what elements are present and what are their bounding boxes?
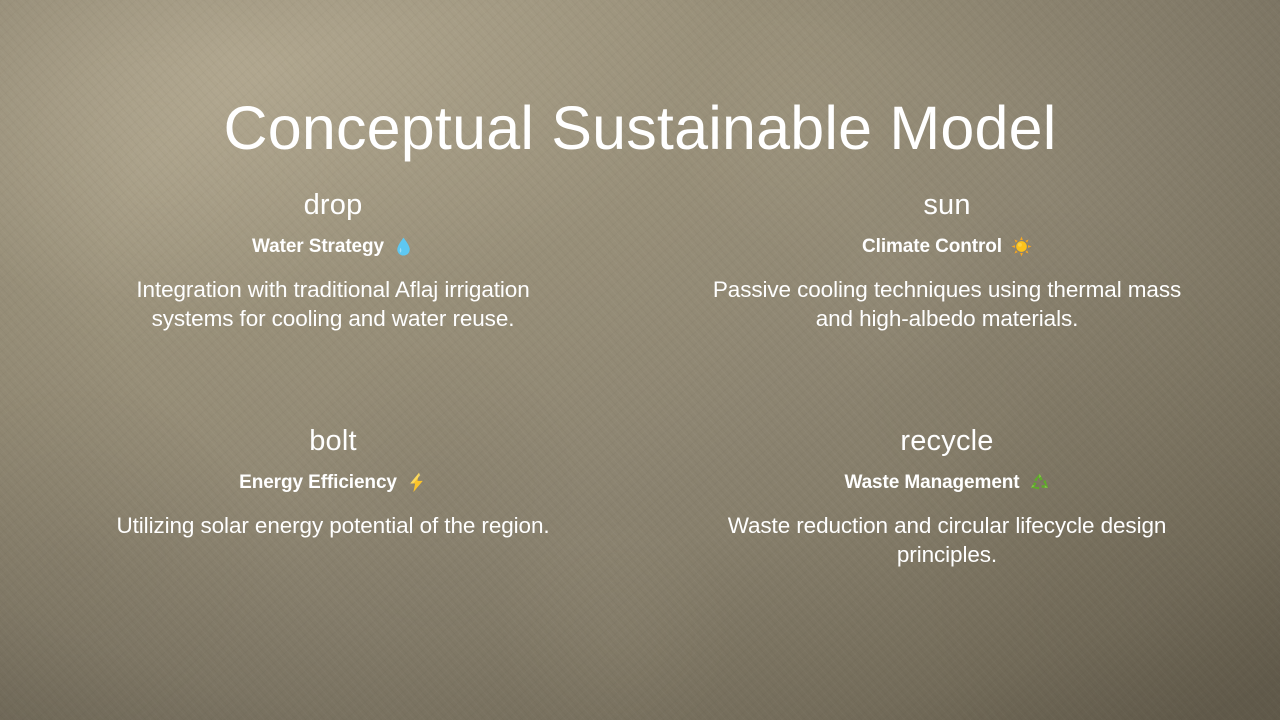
feature-icon-name-sun: sun xyxy=(678,188,1216,223)
feature-cell-sun: sun Climate Control xyxy=(654,188,1240,424)
feature-heading-label-recycle: Waste Management xyxy=(844,471,1019,495)
recycle-emoji xyxy=(1029,472,1050,493)
feature-heading-recycle: Waste Management xyxy=(678,471,1216,495)
feature-cell-drop: drop Water Strategy Integration with tra… xyxy=(40,188,626,424)
feature-body-bolt: Utilizing solar energy potential of the … xyxy=(98,511,568,540)
feature-icon-name-recycle: recycle xyxy=(678,424,1216,459)
feature-body-sun: Passive cooling techniques using thermal… xyxy=(712,275,1182,334)
feature-heading-label-sun: Climate Control xyxy=(862,235,1002,259)
feature-icon-name-bolt: bolt xyxy=(64,424,602,459)
feature-heading-label-bolt: Energy Efficiency xyxy=(239,471,397,495)
lightning-bolt-emoji xyxy=(406,472,427,493)
feature-heading-sun: Climate Control xyxy=(678,235,1216,259)
feature-grid: drop Water Strategy Integration with tra… xyxy=(40,188,1240,569)
water-drop-emoji xyxy=(393,236,414,257)
feature-body-drop: Integration with traditional Aflaj irrig… xyxy=(98,275,568,334)
feature-icon-name-drop: drop xyxy=(64,188,602,223)
sun-emoji xyxy=(1011,236,1032,257)
feature-heading-label-drop: Water Strategy xyxy=(252,235,384,259)
feature-cell-recycle: recycle Waste Management xyxy=(654,424,1240,569)
feature-cell-bolt: bolt Energy Efficiency Utilizing solar e… xyxy=(40,424,626,569)
feature-heading-drop: Water Strategy xyxy=(64,235,602,259)
slide-canvas: Conceptual Sustainable Model drop Water … xyxy=(0,0,1280,720)
page-title: Conceptual Sustainable Model xyxy=(0,93,1280,163)
feature-heading-bolt: Energy Efficiency xyxy=(64,471,602,495)
feature-body-recycle: Waste reduction and circular lifecycle d… xyxy=(712,511,1182,570)
